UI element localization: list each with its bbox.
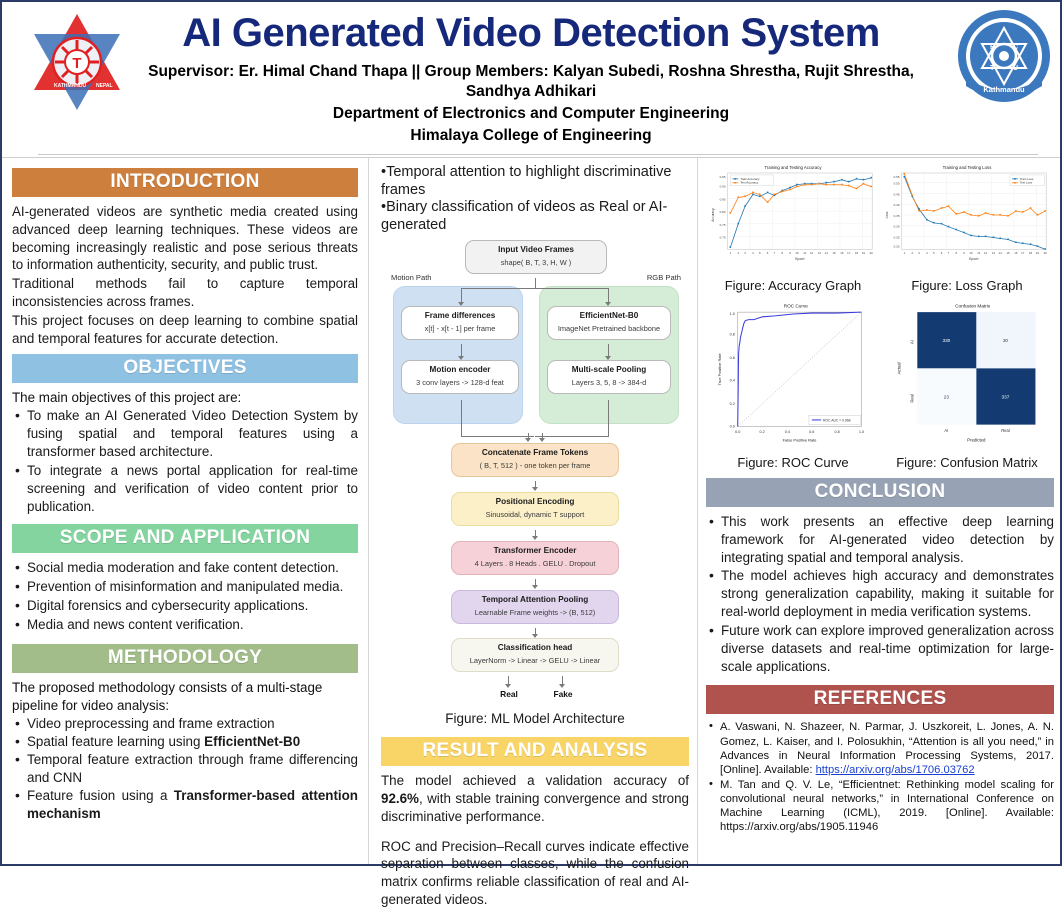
svg-text:11: 11 bbox=[977, 251, 980, 255]
rgb-path-label: RGB Path bbox=[647, 273, 681, 282]
figure-caption-roc: Figure: ROC Curve bbox=[706, 455, 880, 470]
flow-node-multiscale-pooling: Multi-scale Pooling Layers 3, 5, 8 -> 38… bbox=[547, 360, 671, 394]
chart-title: Confusion Matrix bbox=[955, 303, 991, 308]
loss-chart-svg: Training and Testing Loss bbox=[880, 160, 1054, 272]
scope-list: Social media moderation and fake content… bbox=[12, 559, 358, 633]
flow-node-title: Frame differences bbox=[406, 311, 514, 321]
chart-title: Training and Testing Accuracy bbox=[764, 165, 822, 170]
list-item: The model achieves high accuracy and dem… bbox=[706, 567, 1054, 620]
chart-ylabel: Accuracy bbox=[711, 208, 715, 222]
introduction-body: AI-generated videos are synthetic media … bbox=[12, 203, 358, 348]
motion-path-label: Motion Path bbox=[391, 273, 432, 282]
middle-column: •Temporal attention to highlight discrim… bbox=[368, 158, 698, 864]
intro-paragraph-3: This project focuses on deep learning to… bbox=[12, 312, 358, 348]
list-item: Social media moderation and fake content… bbox=[12, 559, 358, 577]
svg-text:1.0: 1.0 bbox=[730, 312, 735, 316]
svg-text:7: 7 bbox=[948, 251, 950, 255]
reference-link[interactable]: https://arxiv.org/abs/1706.03762 bbox=[816, 764, 975, 776]
svg-text:0.70: 0.70 bbox=[720, 235, 726, 239]
svg-text:15: 15 bbox=[1006, 251, 1010, 255]
flow-node-title: EfficientNet-B0 bbox=[552, 311, 666, 321]
flow-node-subtitle: Sinusoidal, dynamic T support bbox=[456, 511, 614, 520]
svg-text:11: 11 bbox=[803, 251, 806, 255]
cm-ytick-ai: AI bbox=[910, 340, 915, 344]
result-paragraph-2: ROC and Precision–Recall curves indicate… bbox=[381, 838, 689, 909]
list-item-text: Spatial feature learning using bbox=[27, 734, 204, 749]
flow-node-subtitle: 3 conv layers -> 128-d feat bbox=[406, 379, 514, 388]
svg-text:18: 18 bbox=[855, 251, 859, 255]
list-item: Temporal feature extraction through fram… bbox=[12, 751, 358, 787]
cm-cell-ai-real: 30 bbox=[1003, 338, 1009, 343]
header-divider bbox=[2, 153, 1060, 157]
chart-title: Training and Testing Loss bbox=[943, 165, 992, 170]
svg-text:0.35: 0.35 bbox=[894, 214, 900, 218]
svg-text:7: 7 bbox=[774, 251, 776, 255]
list-item: To make an AI Generated Video Detection … bbox=[12, 407, 358, 460]
svg-text:0.0: 0.0 bbox=[730, 424, 735, 428]
flow-node-title: Positional Encoding bbox=[456, 497, 614, 507]
svg-text:T: T bbox=[72, 55, 81, 72]
chart-cell-roc: ROC Curve 0.00.20.4 0.60.81.0 0.00.20.4 … bbox=[706, 299, 880, 470]
flow-node-title: Transformer Encoder bbox=[456, 546, 614, 556]
svg-text:17: 17 bbox=[1021, 251, 1025, 255]
flow-node-subtitle: Learnable Frame weights -> (B, 512) bbox=[456, 609, 614, 618]
cm-xtick-real: Real bbox=[1001, 428, 1010, 433]
svg-text:1.0: 1.0 bbox=[859, 430, 864, 434]
list-item: Media and news content verification. bbox=[12, 616, 358, 634]
svg-text:0.75: 0.75 bbox=[720, 223, 726, 227]
svg-text:6: 6 bbox=[941, 251, 943, 255]
cm-xtick-ai: AI bbox=[944, 428, 948, 433]
result-paragraph-1: The model achieved a validation accuracy… bbox=[381, 772, 689, 825]
flow-node-subtitle: LayerNorm -> Linear -> GELU -> Linear bbox=[456, 657, 614, 666]
section-header-conclusion: CONCLUSION bbox=[706, 478, 1054, 507]
college-line: Himalaya College of Engineering bbox=[132, 126, 930, 146]
result-text-a: The model achieved a validation accuracy… bbox=[381, 773, 689, 788]
list-item: Feature fusion using a Transformer-based… bbox=[12, 787, 358, 823]
cm-cell-ai-ai: 330 bbox=[942, 338, 950, 343]
flow-node-input: Input Video Frames shape( B, T, 3, H, W … bbox=[465, 240, 607, 274]
figure-caption-architecture: Figure: ML Model Architecture bbox=[381, 711, 689, 726]
left-column: INTRODUCTION AI-generated videos are syn… bbox=[2, 158, 368, 864]
intro-paragraph-2: Traditional methods fail to capture temp… bbox=[12, 275, 358, 311]
svg-text:2: 2 bbox=[911, 251, 913, 255]
svg-text:0.80: 0.80 bbox=[720, 210, 726, 214]
flow-node-subtitle: 4 Layers . 8 Heads . GELU . Dropout bbox=[456, 560, 614, 569]
flow-node-transformer-encoder: Transformer Encoder 4 Layers . 8 Heads .… bbox=[451, 541, 619, 575]
list-item: Spatial feature learning using Efficient… bbox=[12, 733, 358, 751]
section-header-scope: SCOPE AND APPLICATION bbox=[12, 524, 358, 553]
svg-text:0.90: 0.90 bbox=[720, 185, 726, 189]
section-header-objectives: OBJECTIVES bbox=[12, 354, 358, 383]
flow-node-subtitle: ImageNet Pretrained backbone bbox=[552, 325, 666, 334]
chart-ylabel: True Positive Rate bbox=[717, 353, 722, 385]
svg-text:0.30: 0.30 bbox=[894, 225, 900, 229]
chart-title: ROC Curve bbox=[784, 303, 809, 308]
flow-node-frame-differences: Frame differences x[t] - x[t - 1] per fr… bbox=[401, 306, 519, 340]
svg-text:10: 10 bbox=[795, 251, 799, 255]
svg-text:H: H bbox=[990, 44, 995, 51]
svg-text:T: T bbox=[990, 65, 995, 72]
section-header-methodology: METHODOLOGY bbox=[12, 644, 358, 673]
svg-text:9: 9 bbox=[789, 251, 791, 255]
himalaya-college-of-engineering-logo: H C T U Kathmandu bbox=[954, 6, 1054, 110]
svg-text:2: 2 bbox=[737, 251, 739, 255]
svg-text:0.6: 0.6 bbox=[730, 356, 735, 360]
svg-text:13: 13 bbox=[818, 251, 822, 255]
accuracy-chart-svg: Training and Testing Accuracy bbox=[706, 160, 880, 272]
chart-xlabel: Epoch bbox=[969, 257, 978, 261]
svg-text:0.85: 0.85 bbox=[720, 197, 726, 201]
svg-text:19: 19 bbox=[862, 251, 866, 255]
confusion-matrix-chart: Confusion Matrix 330 30 23 337 AI Real bbox=[880, 299, 1054, 454]
roc-chart-svg: ROC Curve 0.00.20.4 0.60.81.0 0.00.20.4 … bbox=[706, 299, 880, 449]
result-text-b: , with stable training convergence and s… bbox=[381, 791, 689, 824]
flow-node-title: Input Video Frames bbox=[470, 245, 602, 255]
roc-chart-legend: ROC AUC = 0.968 bbox=[809, 415, 861, 424]
section-header-references: REFERENCES bbox=[706, 685, 1054, 714]
mid-bullet-2: •Binary classification of videos as Real… bbox=[381, 199, 689, 234]
page-title: AI Generated Video Detection System bbox=[132, 12, 930, 54]
svg-text:8: 8 bbox=[955, 251, 957, 255]
chart-ylabel: Loss bbox=[885, 211, 889, 218]
continued-objective-bullets: •Temporal attention to highlight discrim… bbox=[381, 164, 689, 234]
svg-text:10: 10 bbox=[969, 251, 973, 255]
svg-text:0.25: 0.25 bbox=[894, 235, 900, 239]
list-item-text: Temporal feature extraction through fram… bbox=[27, 752, 358, 785]
svg-text:U: U bbox=[1013, 65, 1018, 72]
svg-text:6: 6 bbox=[767, 251, 769, 255]
svg-text:0.8: 0.8 bbox=[730, 333, 735, 337]
list-item-text: Feature fusion using a bbox=[27, 788, 174, 803]
svg-text:0.45: 0.45 bbox=[894, 192, 900, 196]
figure-caption-confusion: Figure: Confusion Matrix bbox=[880, 455, 1054, 470]
section-header-introduction: INTRODUCTION bbox=[12, 168, 358, 197]
figure-caption-loss: Figure: Loss Graph bbox=[880, 278, 1054, 293]
flow-node-title: Temporal Attention Pooling bbox=[456, 595, 614, 605]
svg-text:12: 12 bbox=[810, 251, 814, 255]
confusion-matrix-svg: Confusion Matrix 330 30 23 337 AI Real bbox=[880, 299, 1054, 449]
svg-text:0.0: 0.0 bbox=[735, 430, 740, 434]
roc-auc-label: ROC AUC = 0.968 bbox=[823, 418, 851, 422]
chart-cell-loss: Training and Testing Loss bbox=[880, 160, 1054, 293]
svg-text:16: 16 bbox=[840, 251, 844, 255]
svg-text:Test Accuracy: Test Accuracy bbox=[740, 181, 759, 185]
flow-node-title: Multi-scale Pooling bbox=[552, 365, 666, 375]
methodology-lead: The proposed methodology consists of a m… bbox=[12, 679, 358, 715]
svg-text:0.20: 0.20 bbox=[894, 244, 900, 248]
flow-node-classification-head: Classification head LayerNorm -> Linear … bbox=[451, 638, 619, 672]
flow-output-fake: Fake bbox=[541, 689, 585, 699]
svg-text:20: 20 bbox=[870, 251, 874, 255]
svg-text:NEPAL: NEPAL bbox=[96, 83, 113, 89]
svg-text:0.4: 0.4 bbox=[785, 430, 790, 434]
flow-node-title: Motion encoder bbox=[406, 365, 514, 375]
svg-text:0.2: 0.2 bbox=[730, 402, 735, 406]
svg-text:Kathmandu: Kathmandu bbox=[983, 85, 1025, 94]
department-line: Department of Electronics and Computer E… bbox=[132, 104, 930, 124]
list-item-emphasis: EfficientNet-B0 bbox=[204, 734, 300, 749]
reference-item: A. Vaswani, N. Shazeer, N. Parmar, J. Us… bbox=[706, 720, 1054, 776]
reference-item: M. Tan and Q. V. Le, “Efficientnet: Reth… bbox=[706, 778, 1054, 834]
list-item: Digital forensics and cybersecurity appl… bbox=[12, 597, 358, 615]
ml-model-architecture-diagram-tail: Classification head LayerNorm -> Linear … bbox=[387, 638, 683, 702]
flow-node-positional-encoding: Positional Encoding Sinusoidal, dynamic … bbox=[451, 492, 619, 526]
flow-node-subtitle: x[t] - x[t - 1] per frame bbox=[406, 325, 514, 334]
loss-chart: Training and Testing Loss bbox=[880, 160, 1054, 277]
svg-text:13: 13 bbox=[992, 251, 996, 255]
cm-cell-real-real: 337 bbox=[1002, 394, 1010, 399]
svg-text:0.95: 0.95 bbox=[720, 175, 726, 179]
svg-text:18: 18 bbox=[1029, 251, 1033, 255]
flow-node-efficientnet: EfficientNet-B0 ImageNet Pretrained back… bbox=[547, 306, 671, 340]
mid-bullet-1: •Temporal attention to highlight discrim… bbox=[381, 164, 689, 199]
conclusion-list: This work presents an effective deep lea… bbox=[706, 513, 1054, 675]
svg-text:14: 14 bbox=[825, 251, 829, 255]
flow-node-title: Concatenate Frame Tokens bbox=[456, 448, 614, 458]
accuracy-chart: Training and Testing Accuracy bbox=[706, 160, 880, 277]
methodology-list: Video preprocessing and frame extraction… bbox=[12, 715, 358, 822]
tribhuvan-university-logo: T KATHMANDU NEPAL bbox=[24, 6, 130, 118]
cm-ytick-real: Real bbox=[910, 394, 915, 403]
cm-cell-real-ai: 23 bbox=[944, 394, 950, 399]
ml-model-architecture-diagram: Motion Path RGB Path Input Video Frames … bbox=[387, 240, 683, 638]
svg-text:0.55: 0.55 bbox=[894, 175, 900, 179]
chart-ylabel: Actual bbox=[896, 362, 901, 374]
svg-text:0.4: 0.4 bbox=[730, 379, 735, 383]
chart-cell-confusion: Confusion Matrix 330 30 23 337 AI Real bbox=[880, 299, 1054, 470]
flow-output-real: Real bbox=[487, 689, 531, 699]
list-item-text: Video preprocessing and frame extraction bbox=[27, 716, 275, 731]
svg-text:0.50: 0.50 bbox=[894, 182, 900, 186]
poster-root: T KATHMANDU NEPAL H C T U Kathmandu bbox=[0, 0, 1062, 866]
svg-text:KATHMANDU: KATHMANDU bbox=[54, 83, 87, 89]
svg-text:8: 8 bbox=[781, 251, 783, 255]
poster-columns: INTRODUCTION AI-generated videos are syn… bbox=[2, 158, 1060, 864]
flow-node-subtitle: ( B, T, 512 ) - one token per frame bbox=[456, 462, 614, 471]
chart-xlabel: Epoch bbox=[795, 257, 804, 261]
flow-node-motion-encoder: Motion encoder 3 conv layers -> 128-d fe… bbox=[401, 360, 519, 394]
svg-text:5: 5 bbox=[759, 251, 761, 255]
objectives-lead: The main objectives of this project are: bbox=[12, 389, 358, 407]
svg-text:9: 9 bbox=[963, 251, 965, 255]
list-item: To integrate a news portal application f… bbox=[12, 462, 358, 515]
svg-text:20: 20 bbox=[1044, 251, 1048, 255]
flow-node-concatenate: Concatenate Frame Tokens ( B, T, 512 ) -… bbox=[451, 443, 619, 477]
list-item: This work presents an effective deep lea… bbox=[706, 513, 1054, 566]
svg-text:1: 1 bbox=[904, 251, 906, 255]
svg-text:Test Loss: Test Loss bbox=[1020, 181, 1033, 185]
list-item: Video preprocessing and frame extraction bbox=[12, 715, 358, 733]
flow-node-subtitle: shape( B, T, 3, H, W ) bbox=[470, 259, 602, 268]
section-header-result: RESULT AND ANALYSIS bbox=[381, 737, 689, 766]
svg-text:1: 1 bbox=[730, 251, 732, 255]
svg-text:5: 5 bbox=[933, 251, 935, 255]
chart-cell-accuracy: Training and Testing Accuracy bbox=[706, 160, 880, 293]
svg-text:17: 17 bbox=[847, 251, 851, 255]
author-line: Supervisor: Er. Himal Chand Thapa || Gro… bbox=[132, 62, 930, 102]
svg-text:4: 4 bbox=[752, 251, 754, 255]
result-body: The model achieved a validation accuracy… bbox=[381, 772, 689, 909]
chart-xlabel: False Positive Rate bbox=[783, 438, 817, 443]
svg-text:19: 19 bbox=[1036, 251, 1040, 255]
roc-chart: ROC Curve 0.00.20.4 0.60.81.0 0.00.20.4 … bbox=[706, 299, 880, 454]
list-item: Future work can explore improved general… bbox=[706, 622, 1054, 675]
charts-grid: Training and Testing Accuracy bbox=[706, 160, 1054, 470]
result-accuracy-value: 92.6% bbox=[381, 791, 419, 806]
objectives-list: To make an AI Generated Video Detection … bbox=[12, 407, 358, 515]
svg-text:0.40: 0.40 bbox=[894, 203, 900, 207]
poster-header: T KATHMANDU NEPAL H C T U Kathmandu bbox=[2, 2, 1060, 158]
right-column: Training and Testing Accuracy bbox=[698, 158, 1060, 864]
svg-text:0.8: 0.8 bbox=[834, 430, 839, 434]
svg-text:15: 15 bbox=[832, 251, 836, 255]
svg-text:3: 3 bbox=[918, 251, 920, 255]
svg-text:16: 16 bbox=[1014, 251, 1018, 255]
svg-text:14: 14 bbox=[999, 251, 1003, 255]
flow-node-subtitle: Layers 3, 5, 8 -> 384-d bbox=[552, 379, 666, 388]
intro-paragraph-1: AI-generated videos are synthetic media … bbox=[12, 203, 358, 274]
svg-text:0.2: 0.2 bbox=[759, 430, 764, 434]
svg-text:4: 4 bbox=[926, 251, 928, 255]
svg-text:12: 12 bbox=[984, 251, 988, 255]
list-item: Prevention of misinformation and manipul… bbox=[12, 578, 358, 596]
flow-node-title: Classification head bbox=[456, 643, 614, 653]
references-list: A. Vaswani, N. Shazeer, N. Parmar, J. Us… bbox=[706, 720, 1054, 834]
figure-caption-accuracy: Figure: Accuracy Graph bbox=[706, 278, 880, 293]
flow-node-temporal-attention-pooling: Temporal Attention Pooling Learnable Fra… bbox=[451, 590, 619, 624]
accuracy-chart-legend: Train Accuracy Test Accuracy bbox=[730, 175, 773, 186]
chart-xlabel: Predicted bbox=[967, 438, 986, 443]
loss-chart-legend: Train Loss Test Loss bbox=[1010, 175, 1044, 186]
svg-text:C: C bbox=[1013, 44, 1018, 51]
svg-text:0.6: 0.6 bbox=[809, 430, 814, 434]
svg-text:3: 3 bbox=[744, 251, 746, 255]
